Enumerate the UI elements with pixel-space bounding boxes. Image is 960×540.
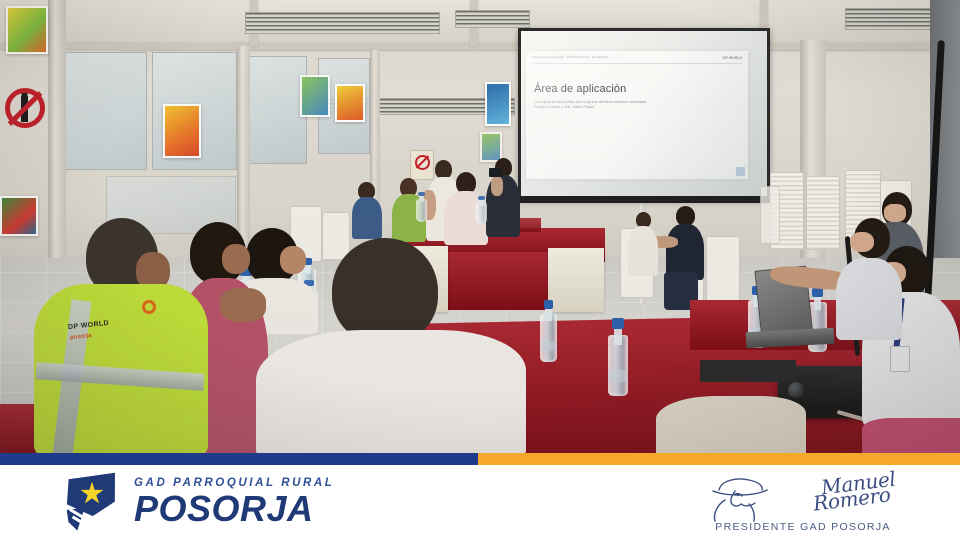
- wall-artwork: [485, 82, 511, 126]
- wall-artwork: [335, 84, 365, 122]
- slide-body-text: Los sujetos de esta política son los gru…: [534, 100, 652, 111]
- window-panel: [62, 52, 147, 170]
- slide-brand-logo: DP WORLD: [723, 56, 742, 60]
- meeting-photograph: Política de Sostenibilidad · DP World Po…: [0, 0, 960, 453]
- presentation-slide: Política de Sostenibilidad · DP World Po…: [526, 51, 748, 179]
- signature-artwork: Manuel Romero: [703, 472, 903, 520]
- chair-cushion: [656, 396, 806, 453]
- attendee-seated: [352, 182, 382, 238]
- no-entry-pedestrian-icon: [2, 78, 48, 148]
- wall-artwork: [300, 75, 330, 117]
- slide-kicker: Política de Sostenibilidad · DP World Po…: [532, 56, 609, 59]
- president-signature-block: Manuel Romero PRESIDENTE GAD POSORJA: [698, 468, 908, 538]
- presenter-seated: [660, 206, 704, 302]
- president-portrait-icon: [705, 474, 801, 522]
- projection-screen: Política de Sostenibilidad · DP World Po…: [518, 28, 770, 200]
- air-vent-icon: [455, 10, 530, 28]
- plastic-chair: [706, 236, 740, 302]
- water-bottle: [476, 196, 487, 224]
- divider-blue-segment: [0, 453, 478, 465]
- signature-script: Manuel Romero: [821, 470, 899, 513]
- dp-world-mark-icon: [142, 300, 156, 314]
- wall-artwork: [163, 104, 201, 158]
- logo-main-label: POSORJA: [134, 491, 334, 527]
- water-bottle: [608, 318, 628, 396]
- screen-bottom-bar: [518, 196, 770, 203]
- attendee-seated: [628, 212, 658, 276]
- water-bottle: [416, 192, 427, 222]
- slide-corner-accent: [736, 167, 745, 176]
- signature-caption: PRESIDENTE GAD POSORJA: [715, 521, 891, 533]
- poster-page: Política de Sostenibilidad · DP World Po…: [0, 0, 960, 540]
- laptop-closed: [700, 360, 796, 382]
- posorja-wordmark: GAD PARROQUIAL RURAL POSORJA: [134, 478, 334, 528]
- brand-divider-bar: [0, 453, 960, 465]
- slide-header-rule: Política de Sostenibilidad · DP World Po…: [532, 56, 742, 64]
- window-panel: [247, 56, 307, 164]
- stacked-chairs: [760, 186, 780, 244]
- staff-member-pointing: [822, 218, 902, 338]
- attendee-clothing: [862, 418, 960, 453]
- posorja-crest-logo: [62, 474, 124, 532]
- attendee-hivis-vest: DP WORLD posorja: [24, 218, 208, 453]
- wall-artwork: [6, 6, 48, 54]
- attendee-foreground-center: [256, 238, 526, 453]
- id-badge: [890, 346, 910, 372]
- slide-title: Área de aplicación: [534, 83, 626, 95]
- air-vent-icon: [245, 12, 440, 34]
- divider-orange-segment: [478, 453, 960, 465]
- water-bottle: [540, 300, 557, 362]
- attendee-photographer: [486, 158, 520, 236]
- footer-bar: GAD PARROQUIAL RURAL POSORJA: [0, 465, 960, 540]
- camera-phone-icon: [489, 168, 502, 177]
